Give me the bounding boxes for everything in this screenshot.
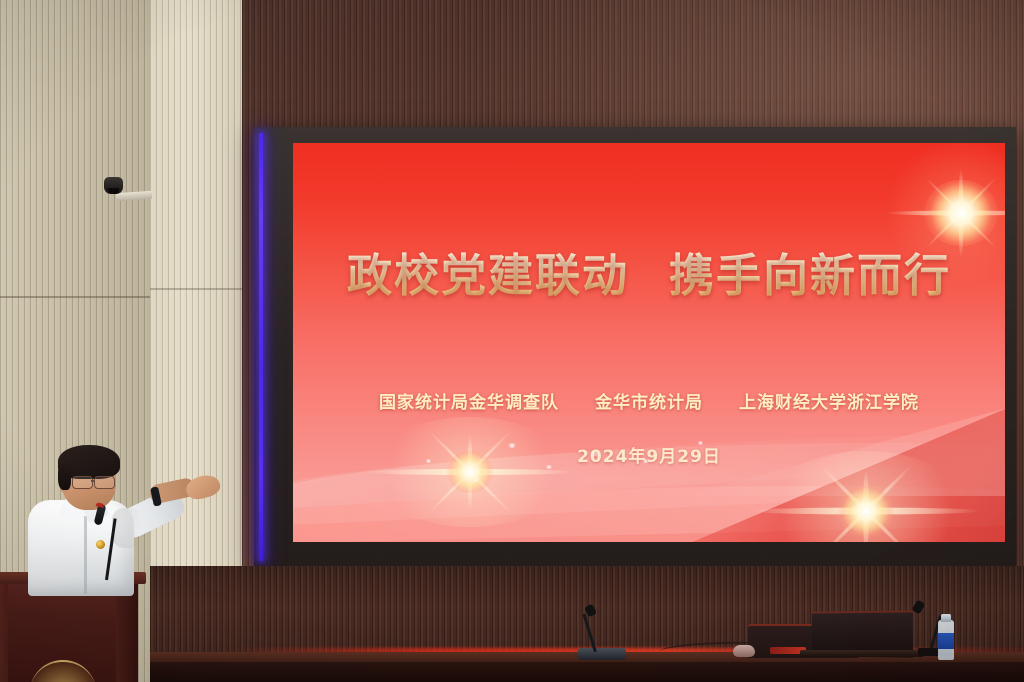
presenter xyxy=(0,440,220,600)
slide-organizations: 国家统计局金华调查队金华市统计局上海财经大学浙江学院 xyxy=(293,388,1005,413)
slide-title-part1: 政校党建联动 xyxy=(347,249,629,302)
conference-hall-scene: 政校党建联动携手向新而行 国家统计局金华调查队金华市统计局上海财经大学浙江学院 … xyxy=(0,0,1024,682)
water-bottle-label xyxy=(938,633,954,649)
presenter-lapel-pin xyxy=(96,540,105,549)
presenter-shoulder-shadow xyxy=(112,508,142,548)
presenter-hair-side xyxy=(58,462,71,490)
slide-title: 政校党建联动携手向新而行 xyxy=(293,239,1005,304)
presenter-hand xyxy=(184,472,223,503)
organization-1: 国家统计局金华调查队 xyxy=(379,393,559,413)
water-bottle-cap xyxy=(941,614,951,622)
presenter-shirt-placket xyxy=(84,516,87,594)
presenter-glasses-bridge xyxy=(91,480,95,482)
wall-seam-left xyxy=(0,296,150,298)
laptop-keyboard[interactable] xyxy=(800,650,924,657)
presenter-glasses-right-lens xyxy=(94,476,115,489)
computer-mouse[interactable] xyxy=(733,645,755,657)
conference-desk-skirt xyxy=(150,662,1024,682)
blue-led-strip xyxy=(259,133,263,561)
organization-2: 金华市统计局 xyxy=(595,393,703,413)
presentation-screen[interactable]: 政校党建联动携手向新而行 国家统计局金华调查队金华市统计局上海财经大学浙江学院 … xyxy=(293,143,1005,542)
presenter-glasses-left-lens xyxy=(72,476,93,489)
wall-seam-middle xyxy=(150,288,242,290)
slide-title-part2: 携手向新而行 xyxy=(669,249,951,302)
slide-date: 2024年9月29日 xyxy=(293,442,1005,467)
organization-3: 上海财经大学浙江学院 xyxy=(739,393,919,413)
sparkle-particle xyxy=(473,479,479,482)
desk-microphone-left-base xyxy=(578,648,626,660)
